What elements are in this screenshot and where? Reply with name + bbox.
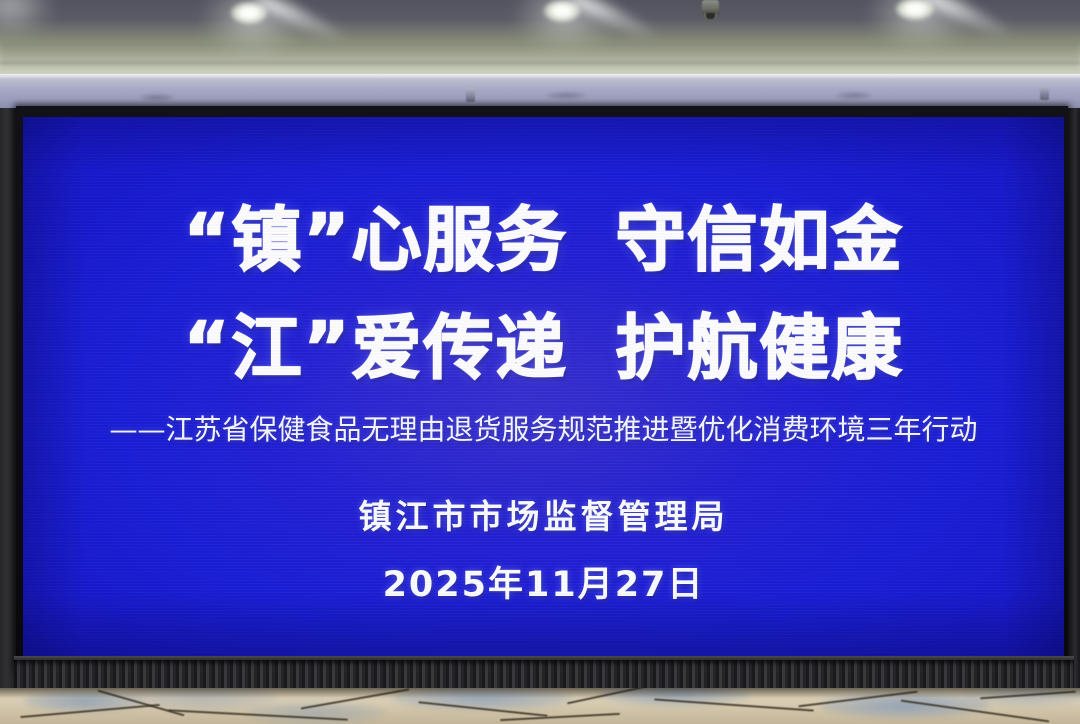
wall-panel-right: [1068, 108, 1080, 724]
soffit-fixture-2: [1040, 86, 1049, 100]
carpet-line-11: [500, 713, 620, 721]
conference-room-photo: “镇”心服务守信如金 “江”爱传递护航健康 ——江苏省保健食品无理由退货服务规范…: [0, 0, 1080, 724]
headline-line-1-part-b: 守信如金: [616, 199, 904, 281]
headline-line-2-part-b: 护航健康: [616, 307, 904, 389]
carpet-base-shadow: [0, 688, 1080, 698]
slide-subtitle: ——江苏省保健食品无理由退货服务规范推进暨优化消费环境三年行动: [109, 415, 977, 446]
slide-content: “镇”心服务守信如金 “江”爱传递护航健康 ——江苏省保健食品无理由退货服务规范…: [23, 117, 1064, 656]
event-date: 2025年11月27日: [383, 556, 705, 607]
organization-name: 镇江市市场监督管理局: [359, 490, 729, 538]
headline-line-2: “江”爱传递护航健康: [183, 313, 903, 383]
soffit-smudge-2: [140, 94, 174, 101]
soffit-smudge-1: [546, 92, 586, 99]
headline-line-1: “镇”心服务守信如金: [183, 205, 903, 275]
soffit-smudge-3: [836, 92, 872, 99]
sprinkler-head-icon: [702, 0, 719, 15]
ceiling-seam: [0, 62, 1080, 64]
headline-line-2-part-a: “江”爱传递: [183, 307, 567, 389]
headline-line-1-part-a: “镇”心服务: [183, 199, 567, 281]
floor-carpet: [0, 688, 1080, 724]
led-display-screen[interactable]: “镇”心服务守信如金 “江”爱传递护航健康 ——江苏省保健食品无理由退货服务规范…: [23, 117, 1064, 656]
soffit-highlight: [0, 74, 1080, 79]
soffit-fixture-1: [466, 88, 475, 102]
